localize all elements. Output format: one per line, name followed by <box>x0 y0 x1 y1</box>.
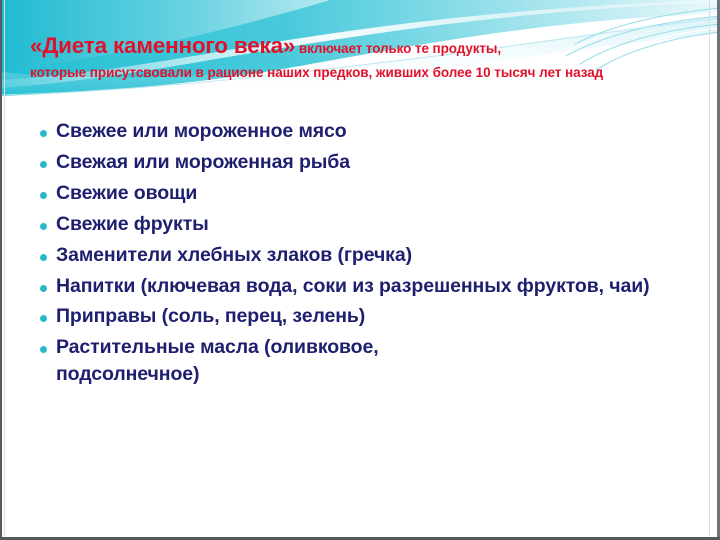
bullet-dot-icon <box>30 242 56 261</box>
bullet-dot-icon <box>30 149 56 168</box>
list-item[interactable]: Приправы (соль, перец, зелень) <box>30 303 702 330</box>
list-item-label: Растительные масла (оливковое, подсолнеч… <box>56 334 526 388</box>
bullet-dot-icon <box>30 303 56 322</box>
list-item[interactable]: Свежее или мороженное мясо <box>30 118 702 145</box>
heading-continuation: включает только те продукты, <box>299 41 501 56</box>
bullet-dot-icon <box>30 180 56 199</box>
list-item-label: Напитки (ключевая вода, соки из разрешен… <box>56 273 696 300</box>
heading-line2: которые присутсвовали в рационе наших пр… <box>30 64 695 83</box>
list-item[interactable]: Растительные масла (оливковое, подсолнеч… <box>30 334 702 388</box>
list-item-label: Заменители хлебных злаков (гречка) <box>56 242 702 269</box>
slide-content: «Диета каменного века» включает только т… <box>0 0 720 540</box>
presentation-slide: «Диета каменного века» включает только т… <box>0 0 720 540</box>
slide-border-left <box>0 0 2 540</box>
bullet-dot-icon <box>30 334 56 353</box>
list-item-label: Свежее или мороженное мясо <box>56 118 702 145</box>
list-item[interactable]: Свежая или мороженная рыба <box>30 149 702 176</box>
slide-border-left-inner <box>4 0 5 540</box>
slide-border-right-inner <box>709 0 710 540</box>
heading-title: «Диета каменного века» <box>30 33 295 58</box>
bullet-dot-icon <box>30 211 56 230</box>
list-item[interactable]: Заменители хлебных злаков (гречка) <box>30 242 702 269</box>
list-item[interactable]: Свежие овощи <box>30 180 702 207</box>
list-item-label: Свежие фрукты <box>56 211 702 238</box>
bullet-list: Свежее или мороженное мясо Свежая или мо… <box>30 118 702 392</box>
list-item-label: Приправы (соль, перец, зелень) <box>56 303 702 330</box>
list-item[interactable]: Напитки (ключевая вода, соки из разрешен… <box>30 273 702 300</box>
list-item[interactable]: Свежие фрукты <box>30 211 702 238</box>
list-item-label: Свежая или мороженная рыба <box>56 149 702 176</box>
bullet-dot-icon <box>30 118 56 137</box>
list-item-label: Свежие овощи <box>56 180 702 207</box>
bullet-dot-icon <box>30 273 56 292</box>
slide-heading: «Диета каменного века» включает только т… <box>30 30 695 83</box>
